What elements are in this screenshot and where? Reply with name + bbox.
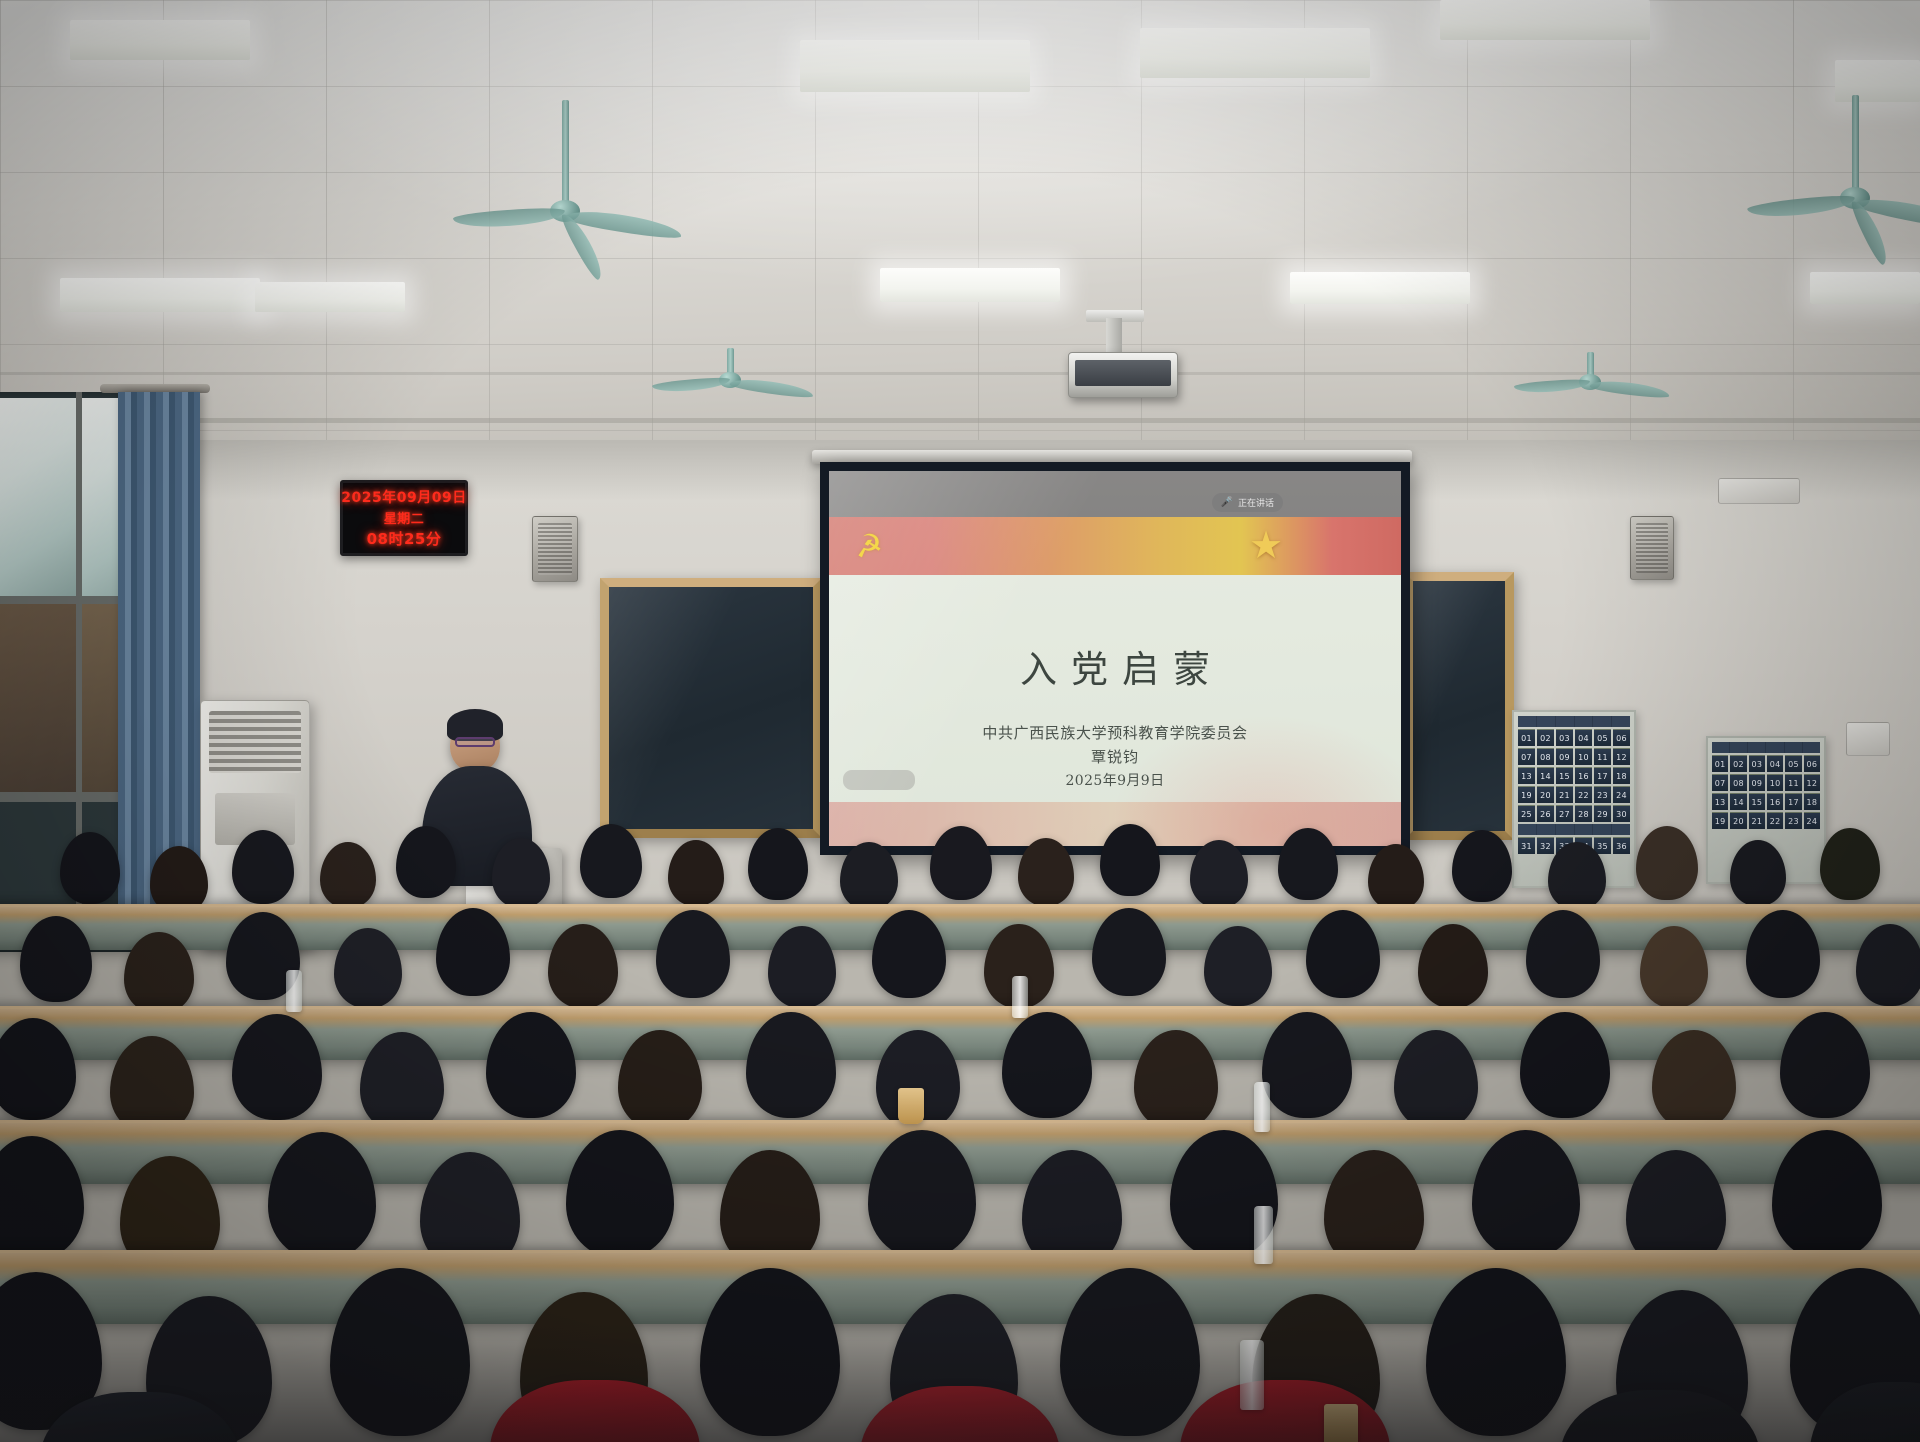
blackboard-sheen bbox=[609, 587, 813, 829]
pocket-cell[interactable]: 11 bbox=[1785, 774, 1801, 791]
audience-head bbox=[1452, 830, 1512, 902]
audience-head bbox=[930, 826, 992, 900]
pocket-cell[interactable]: 09 bbox=[1749, 774, 1765, 791]
audience-head bbox=[748, 828, 808, 900]
pocket-header-cell bbox=[1556, 716, 1574, 727]
ceiling-fan-right bbox=[1740, 95, 1920, 265]
floor-shadow bbox=[0, 1322, 1920, 1442]
pocket-cell[interactable]: 04 bbox=[1575, 729, 1592, 746]
pocket-cell[interactable]: 21 bbox=[1556, 786, 1573, 803]
audience-head bbox=[1190, 840, 1248, 908]
pocket-cell[interactable]: 06 bbox=[1804, 755, 1820, 772]
audience-head bbox=[1548, 842, 1606, 910]
pocket-header-cell bbox=[1537, 716, 1555, 727]
pocket-cell[interactable]: 13 bbox=[1518, 767, 1535, 784]
pocket-cell[interactable]: 17 bbox=[1785, 793, 1801, 810]
wall-speaker-left bbox=[532, 516, 578, 582]
mic-icon: 🎤 bbox=[1221, 497, 1233, 508]
pocket-cell[interactable]: 15 bbox=[1749, 793, 1765, 810]
pocket-cell[interactable]: 20 bbox=[1537, 786, 1554, 803]
pocket-cell[interactable]: 24 bbox=[1613, 786, 1630, 803]
audience-head bbox=[668, 840, 724, 906]
ceiling-light-panel bbox=[1290, 272, 1470, 304]
ceiling-fan-left bbox=[460, 100, 670, 270]
pocket-header-cell bbox=[1712, 742, 1729, 753]
pocket-header-cell bbox=[1593, 716, 1611, 727]
ceiling-light-panel bbox=[1440, 0, 1650, 40]
pocket-number-grid: 01 02 03 04 05 06 07 08 09 10 11 12 13 1… bbox=[1712, 755, 1820, 829]
audience-head bbox=[60, 832, 120, 904]
pocket-header-cell bbox=[1575, 716, 1593, 727]
slide-banner bbox=[829, 517, 1401, 575]
lecture-hall-photo: 2025年09月09日 星期二 08时25分 🎤 正在讲话 ☭ ★ 入党启蒙 bbox=[0, 0, 1920, 1442]
pocket-cell[interactable]: 08 bbox=[1730, 774, 1746, 791]
pocket-cell[interactable]: 17 bbox=[1594, 767, 1611, 784]
water-bottle[interactable] bbox=[1254, 1082, 1270, 1132]
water-bottle[interactable] bbox=[1254, 1206, 1273, 1264]
audience-head bbox=[1368, 844, 1424, 910]
projection-screen: 🎤 正在讲话 ☭ ★ 入党启蒙 中共广西民族大学预科教育学院委员会 覃锐钧 20… bbox=[820, 462, 1410, 855]
blackboard-left bbox=[600, 578, 822, 838]
pocket-header-cell bbox=[1612, 716, 1630, 727]
pocket-cell[interactable]: 07 bbox=[1712, 774, 1728, 791]
pocket-cell[interactable]: 02 bbox=[1537, 729, 1554, 746]
ceiling-light-panel bbox=[255, 282, 405, 312]
ceiling-light-panel bbox=[70, 20, 250, 60]
pocket-cell[interactable]: 05 bbox=[1594, 729, 1611, 746]
slide-body: 入党启蒙 中共广西民族大学预科教育学院委员会 覃锐钧 2025年9月9日 bbox=[829, 575, 1401, 846]
ceiling-light-panel bbox=[800, 40, 1030, 92]
glasses-icon bbox=[455, 737, 495, 747]
pocket-cell[interactable]: 09 bbox=[1556, 748, 1573, 765]
fan-blade bbox=[652, 376, 731, 394]
fan-blade bbox=[729, 376, 814, 400]
ceiling-light-panel bbox=[1810, 272, 1920, 304]
led-clock-date: 2025年09月09日 bbox=[341, 487, 466, 507]
water-bottle[interactable] bbox=[286, 970, 302, 1012]
audience-head bbox=[580, 824, 642, 898]
audience-head bbox=[1730, 840, 1786, 906]
led-clock-time: 08时25分 bbox=[367, 528, 442, 549]
student-audience bbox=[0, 820, 1920, 1442]
pocket-header-cell bbox=[1730, 742, 1747, 753]
water-bottle[interactable] bbox=[1012, 976, 1028, 1018]
fan-blade bbox=[1589, 378, 1670, 400]
pocket-cell[interactable]: 07 bbox=[1518, 748, 1535, 765]
pocket-cell[interactable]: 18 bbox=[1804, 793, 1820, 810]
ceiling-light-panel bbox=[880, 268, 1060, 302]
audience-head bbox=[320, 842, 376, 908]
led-clock-weekday: 星期二 bbox=[384, 508, 425, 527]
window-pane bbox=[0, 398, 76, 598]
pocket-cell[interactable]: 15 bbox=[1556, 767, 1573, 784]
pocket-cell[interactable]: 02 bbox=[1730, 755, 1746, 772]
party-emblem-icon: ☭ bbox=[853, 527, 892, 565]
drink-cup[interactable] bbox=[898, 1088, 924, 1124]
slide-subtitle-presenter: 覃锐钧 bbox=[829, 745, 1401, 769]
projector-mount-pole bbox=[1106, 318, 1122, 356]
pocket-cell[interactable]: 10 bbox=[1575, 748, 1592, 765]
audience-head bbox=[1636, 826, 1698, 900]
ceiling-light-panel bbox=[60, 278, 260, 312]
pocket-board-header bbox=[1712, 742, 1820, 753]
pocket-header-cell bbox=[1748, 742, 1765, 753]
pocket-cell[interactable]: 01 bbox=[1712, 755, 1728, 772]
pocket-number-grid: 01 02 03 04 05 06 07 08 09 10 11 12 13 1… bbox=[1518, 729, 1630, 822]
pocket-cell[interactable]: 18 bbox=[1613, 767, 1630, 784]
pocket-header-cell bbox=[1766, 742, 1783, 753]
wall-outlet-box[interactable] bbox=[1846, 722, 1890, 756]
pocket-cell[interactable]: 01 bbox=[1518, 729, 1535, 746]
audience-head bbox=[396, 826, 456, 898]
led-wall-clock: 2025年09月09日 星期二 08时25分 bbox=[340, 480, 468, 556]
slide-mic-badge[interactable]: 🎤 正在讲话 bbox=[1212, 493, 1283, 512]
pocket-cell[interactable]: 14 bbox=[1730, 793, 1746, 810]
audience-head bbox=[840, 842, 898, 910]
ceiling-fan-far-right bbox=[1515, 352, 1665, 422]
slide-corner-badge bbox=[843, 770, 915, 790]
slide-top-bar bbox=[829, 471, 1401, 517]
pocket-cell[interactable]: 03 bbox=[1749, 755, 1765, 772]
pocket-cell[interactable]: 03 bbox=[1556, 729, 1573, 746]
projector-body bbox=[1075, 360, 1171, 386]
pocket-cell[interactable]: 16 bbox=[1767, 793, 1783, 810]
wall-control-box[interactable] bbox=[1718, 478, 1800, 504]
pocket-board-header bbox=[1518, 716, 1630, 727]
audience-head bbox=[1018, 838, 1074, 906]
pocket-cell[interactable]: 22 bbox=[1575, 786, 1592, 803]
pocket-cell[interactable]: 12 bbox=[1613, 748, 1630, 765]
blackboard-right bbox=[1404, 572, 1514, 840]
fan-rod bbox=[1852, 95, 1859, 195]
audience-head bbox=[1820, 828, 1880, 900]
fan-blade bbox=[1747, 193, 1856, 220]
ac-vent-grille bbox=[209, 711, 301, 773]
ceiling-fan-center bbox=[655, 348, 805, 418]
fan-blade bbox=[1514, 378, 1591, 394]
pocket-header-cell bbox=[1803, 742, 1820, 753]
fan-rod bbox=[562, 100, 569, 208]
pocket-header-cell bbox=[1518, 716, 1536, 727]
pocket-cell[interactable]: 10 bbox=[1767, 774, 1783, 791]
audience-head bbox=[1100, 824, 1160, 896]
pocket-cell[interactable]: 23 bbox=[1594, 786, 1611, 803]
audience-head bbox=[492, 838, 550, 908]
pocket-cell[interactable]: 13 bbox=[1712, 793, 1728, 810]
pocket-cell[interactable]: 11 bbox=[1594, 748, 1611, 765]
blackboard-sheen bbox=[1413, 581, 1505, 831]
pocket-cell[interactable]: 19 bbox=[1518, 786, 1535, 803]
pocket-cell[interactable]: 14 bbox=[1537, 767, 1554, 784]
slide-title: 入党启蒙 bbox=[829, 639, 1401, 693]
pocket-cell[interactable]: 06 bbox=[1613, 729, 1630, 746]
pocket-cell[interactable]: 04 bbox=[1767, 755, 1783, 772]
wall-speaker-right bbox=[1630, 516, 1674, 580]
pocket-cell[interactable]: 05 bbox=[1785, 755, 1801, 772]
ceiling-light-panel bbox=[1140, 28, 1370, 78]
pocket-cell[interactable]: 08 bbox=[1537, 748, 1554, 765]
slide-subtitle-org: 中共广西民族大学预科教育学院委员会 bbox=[829, 721, 1401, 745]
ceiling-projector bbox=[1068, 352, 1178, 398]
pocket-cell[interactable]: 16 bbox=[1575, 767, 1592, 784]
mic-badge-label: 正在讲话 bbox=[1238, 496, 1274, 509]
fan-blade bbox=[453, 206, 566, 230]
window-pane bbox=[0, 604, 76, 794]
audience-head bbox=[232, 830, 294, 904]
star-icon: ★ bbox=[1249, 527, 1283, 565]
audience-head bbox=[1856, 924, 1920, 1006]
presentation-slide: 🎤 正在讲话 ☭ ★ 入党启蒙 中共广西民族大学预科教育学院委员会 覃锐钧 20… bbox=[829, 471, 1401, 846]
audience-head bbox=[1278, 828, 1338, 900]
pocket-cell[interactable]: 12 bbox=[1804, 774, 1820, 791]
pocket-header-cell bbox=[1785, 742, 1802, 753]
